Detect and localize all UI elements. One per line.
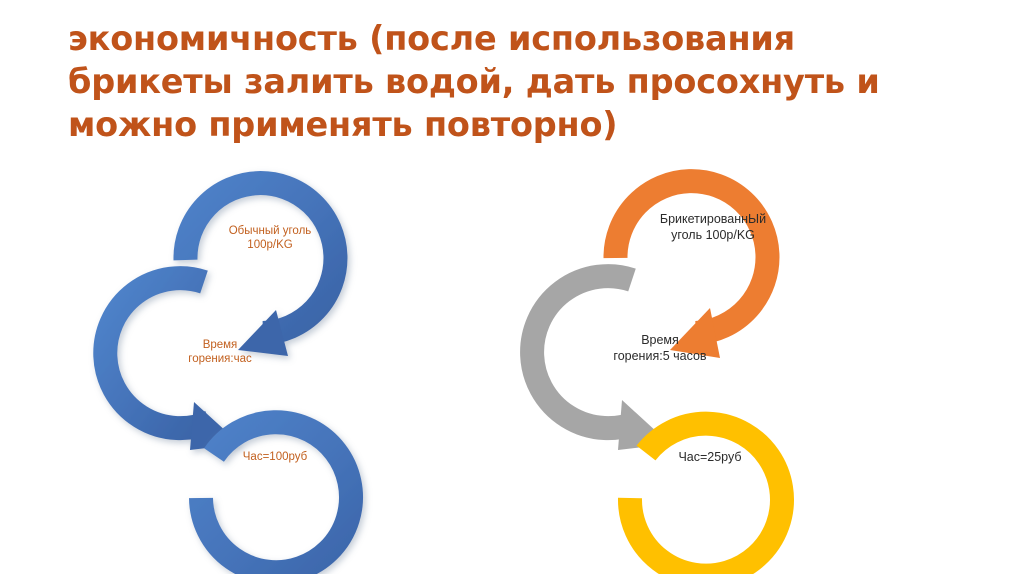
comparison-diagram: Обычный уголь 100р/KG Время горения:час …: [0, 150, 1024, 574]
briquetted-stage-3-ring: [630, 424, 782, 574]
ordinary-stage-1-arrow: [185, 183, 335, 356]
ordinary-coal-cycle: Обычный уголь 100р/KG Время горения:час …: [90, 150, 510, 574]
briquetted-stage-2-arrow: [532, 276, 670, 450]
ordinary-coal-cycle-graphic: [90, 150, 510, 574]
page-title: экономичность (после использования брике…: [68, 18, 968, 147]
briquetted-coal-cycle-graphic: [520, 150, 940, 574]
slide-canvas: экономичность (после использования брике…: [0, 0, 1024, 574]
ordinary-stage-3-ring: [201, 422, 351, 572]
briquetted-coal-cycle: БрикетированнЫй уголь 100р/KG Время горе…: [520, 150, 940, 574]
ordinary-stage-2-arrow: [105, 278, 240, 450]
briquetted-stage-1-arrow: [615, 181, 767, 358]
title-block: экономичность (после использования брике…: [68, 18, 968, 147]
